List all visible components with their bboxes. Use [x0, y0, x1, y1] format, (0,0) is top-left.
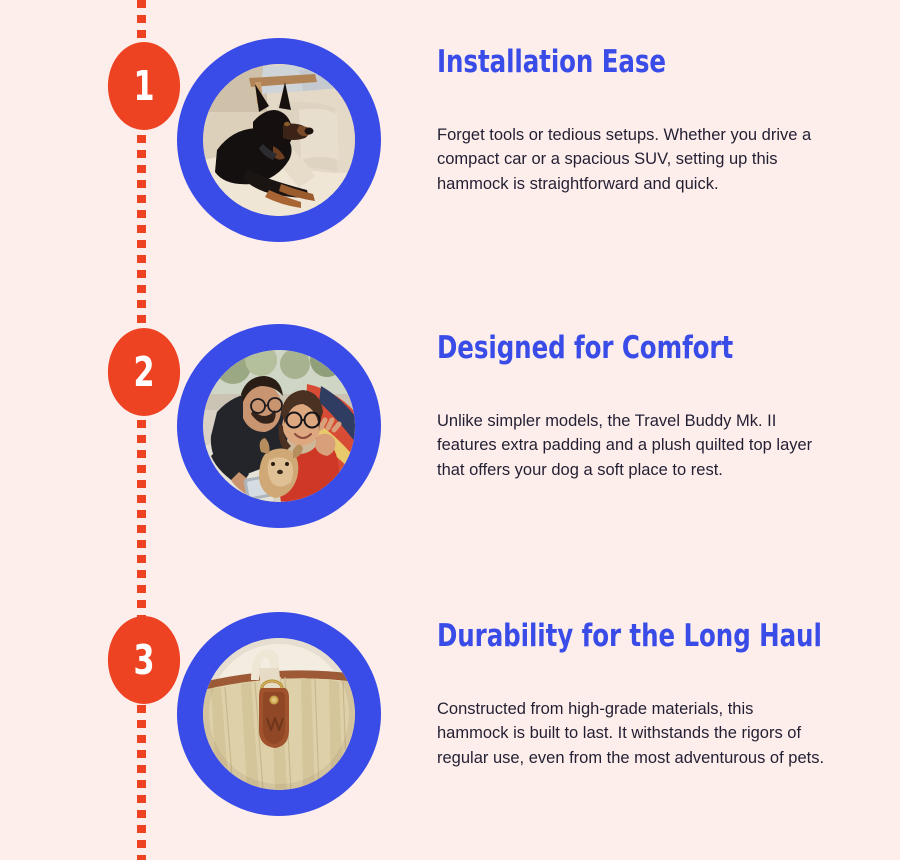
step-text-2: Designed for Comfort Unlike simpler mode… [437, 332, 837, 499]
step-photo-ring-3 [177, 612, 381, 816]
step-title-1: Installation Ease [437, 46, 789, 79]
step-photo-ring-2 [177, 324, 381, 528]
step-title-3: Durability for the Long Haul [437, 620, 789, 653]
step-number-badge-1: 1 [108, 42, 180, 130]
step-number-label: 2 [133, 352, 154, 393]
step-number-badge-3: 3 [108, 616, 180, 704]
step-number-label: 1 [133, 66, 154, 107]
step-body-2: Unlike simpler models, the Travel Buddy … [437, 409, 829, 482]
step-photo-2 [203, 350, 355, 502]
step-body-1: Forget tools or tedious setups. Whether … [437, 123, 829, 196]
quilted-hammock-strap-detail-illustration [203, 638, 355, 790]
step-photo-3 [203, 638, 355, 790]
step-text-3: Durability for the Long Haul Constructed… [437, 620, 837, 787]
step-number-label: 3 [133, 640, 154, 681]
step-text-1: Installation Ease Forget tools or tediou… [437, 46, 837, 213]
step-body-3: Constructed from high-grade materials, t… [437, 697, 825, 770]
step-photo-1 [203, 64, 355, 216]
couple-selfie-with-dog-illustration [203, 350, 355, 502]
dog-in-car-hammock-illustration [203, 64, 355, 216]
infographic-container: 1 [0, 0, 900, 860]
step-title-2: Designed for Comfort [437, 332, 789, 365]
step-photo-ring-1 [177, 38, 381, 242]
step-number-badge-2: 2 [108, 328, 180, 416]
